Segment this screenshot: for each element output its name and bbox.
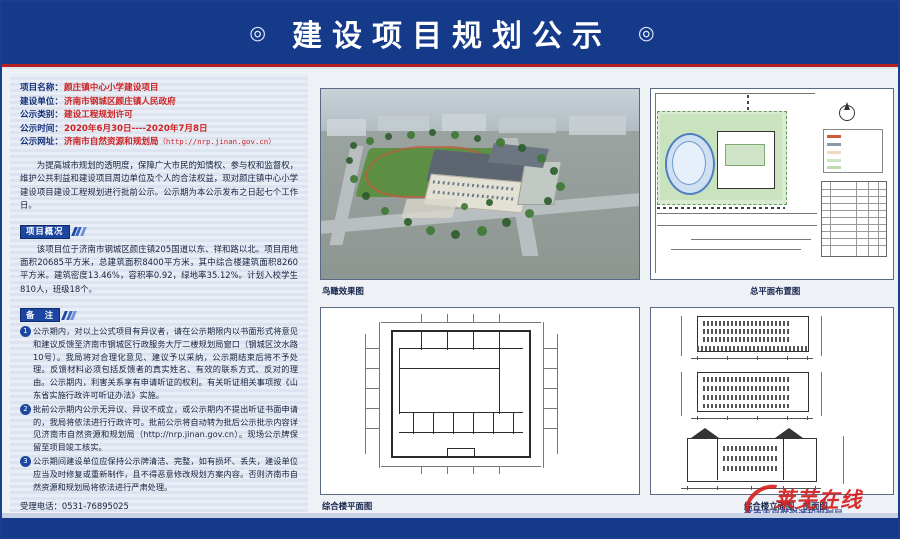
site-plan-sheet	[651, 89, 893, 279]
overview-section-header: 项目概况	[20, 225, 298, 239]
accept-phone-value: 0531-76895025	[62, 501, 129, 511]
note-text: 批前公示期内公示无异议、异议不成立，或公示期内不提出听证书面申请的，我局将依法进…	[33, 403, 298, 454]
notes-section-header: 备 注	[20, 308, 298, 322]
elevation-sheet	[651, 308, 893, 494]
contact-row-accept: 受理电话：0531-76895025	[20, 500, 298, 514]
notes-badge: 备 注	[20, 308, 60, 322]
announcement-url[interactable]: （http://nrp.jinan.gov.cn）	[159, 136, 276, 149]
meta-value: 济南市自然资源和规划局	[64, 136, 159, 149]
meta-label: 公示类别：	[20, 109, 63, 122]
diamond-ornament-left-icon: ◎	[249, 24, 266, 43]
meta-label: 公示时间：	[20, 123, 63, 136]
meta-value: 建设工程规划许可	[64, 109, 133, 122]
note-number-3-icon: 3	[20, 456, 31, 467]
aerial-rendering-image[interactable]	[320, 88, 640, 280]
planning-announcement-poster: ◎ 建设项目规划公示 ◎ 项目名称： 颜庄镇中心小学建设项目 建设单位： 济南市…	[0, 0, 900, 539]
header-thin-divider	[2, 67, 900, 69]
page-title: 建设项目规划公示	[292, 11, 612, 55]
poster-header: ◎ 建设项目规划公示 ◎	[2, 2, 900, 64]
project-meta-list: 项目名称： 颜庄镇中心小学建设项目 建设单位： 济南市钢城区颜庄镇人民政府 公示…	[20, 82, 298, 149]
intro-paragraph: 为提高城市规划的透明度，保障广大市民的知情权、参与权和监督权，维护公共利益和建设…	[20, 159, 298, 213]
meta-label: 项目名称：	[20, 82, 63, 95]
elevation-section-drawing[interactable]	[650, 307, 894, 495]
north-arrow-icon	[839, 105, 855, 121]
note-item: 3 公示期间建设单位应保持公示牌清洁、完整，如有损坏、丢失，建设单位 应当及时修…	[20, 455, 298, 493]
overview-badge: 项目概况	[20, 225, 70, 239]
note-text: 公示期内，对以上公式项目有异议者，请在公示期限内以书面形式将意见和建议反馈至济南…	[33, 325, 298, 402]
meta-row-project-name: 项目名称： 颜庄镇中心小学建设项目	[20, 82, 298, 95]
note-item: 1 公示期内，对以上公式项目有异议者，请在公示期限内以书面形式将意见和建议反馈至…	[20, 325, 298, 402]
floor-plan-caption: 综合楼平面图	[322, 500, 372, 512]
slash-decoration-icon	[63, 311, 75, 320]
meta-label: 建设单位：	[20, 96, 63, 109]
diamond-ornament-right-icon: ◎	[638, 24, 655, 43]
note-item: 2 批前公示期内公示无异议、异议不成立，或公示期内不提出听证书面申请的，我局将依…	[20, 403, 298, 454]
meta-row-announcement-period: 公示时间： 2020年6月30日----2020年7月8日	[20, 123, 298, 136]
note-number-1-icon: 1	[20, 326, 31, 337]
aerial-rendering-caption: 鸟瞰效果图	[322, 285, 364, 297]
meta-row-construction-unit: 建设单位： 济南市钢城区颜庄镇人民政府	[20, 96, 298, 109]
accept-phone-label: 受理电话：	[20, 501, 62, 511]
overview-paragraph: 该项目位于济南市钢城区颜庄镇205国道以东、祥和路以北。项目用地面积20685平…	[20, 243, 298, 297]
floor-plan-drawing[interactable]	[320, 307, 640, 495]
floor-plan-sheet	[321, 308, 639, 494]
elevation-section-caption: 综合楼立面图、剖面图	[744, 500, 828, 512]
site-plan-drawing[interactable]	[650, 88, 894, 280]
header-inner: ◎ 建设项目规划公示 ◎	[249, 11, 654, 55]
meta-row-announcement-type: 公示类别： 建设工程规划许可	[20, 109, 298, 122]
notes-list: 1 公示期内，对以上公式项目有异议者，请在公示期限内以书面形式将意见和建议反馈至…	[20, 325, 298, 493]
meta-label: 公示网址：	[20, 136, 63, 149]
meta-value: 2020年6月30日----2020年7月8日	[64, 123, 208, 136]
site-plan-caption: 总平面布置图	[750, 285, 800, 297]
poster-footer	[2, 518, 900, 539]
meta-value: 颜庄镇中心小学建设项目	[64, 82, 159, 95]
note-text: 公示期间建设单位应保持公示牌清洁、完整，如有损坏、丢失，建设单位 应当及时修复或…	[33, 455, 298, 493]
slash-decoration-icon	[73, 227, 85, 236]
info-panel: 项目名称： 颜庄镇中心小学建设项目 建设单位： 济南市钢城区颜庄镇人民政府 公示…	[10, 74, 308, 512]
meta-row-website: 公示网址： 济南市自然资源和规划局 （http://nrp.jinan.gov.…	[20, 136, 298, 149]
site-data-table	[821, 181, 887, 257]
meta-value: 济南市钢城区颜庄镇人民政府	[64, 96, 176, 109]
note-number-2-icon: 2	[20, 404, 31, 415]
